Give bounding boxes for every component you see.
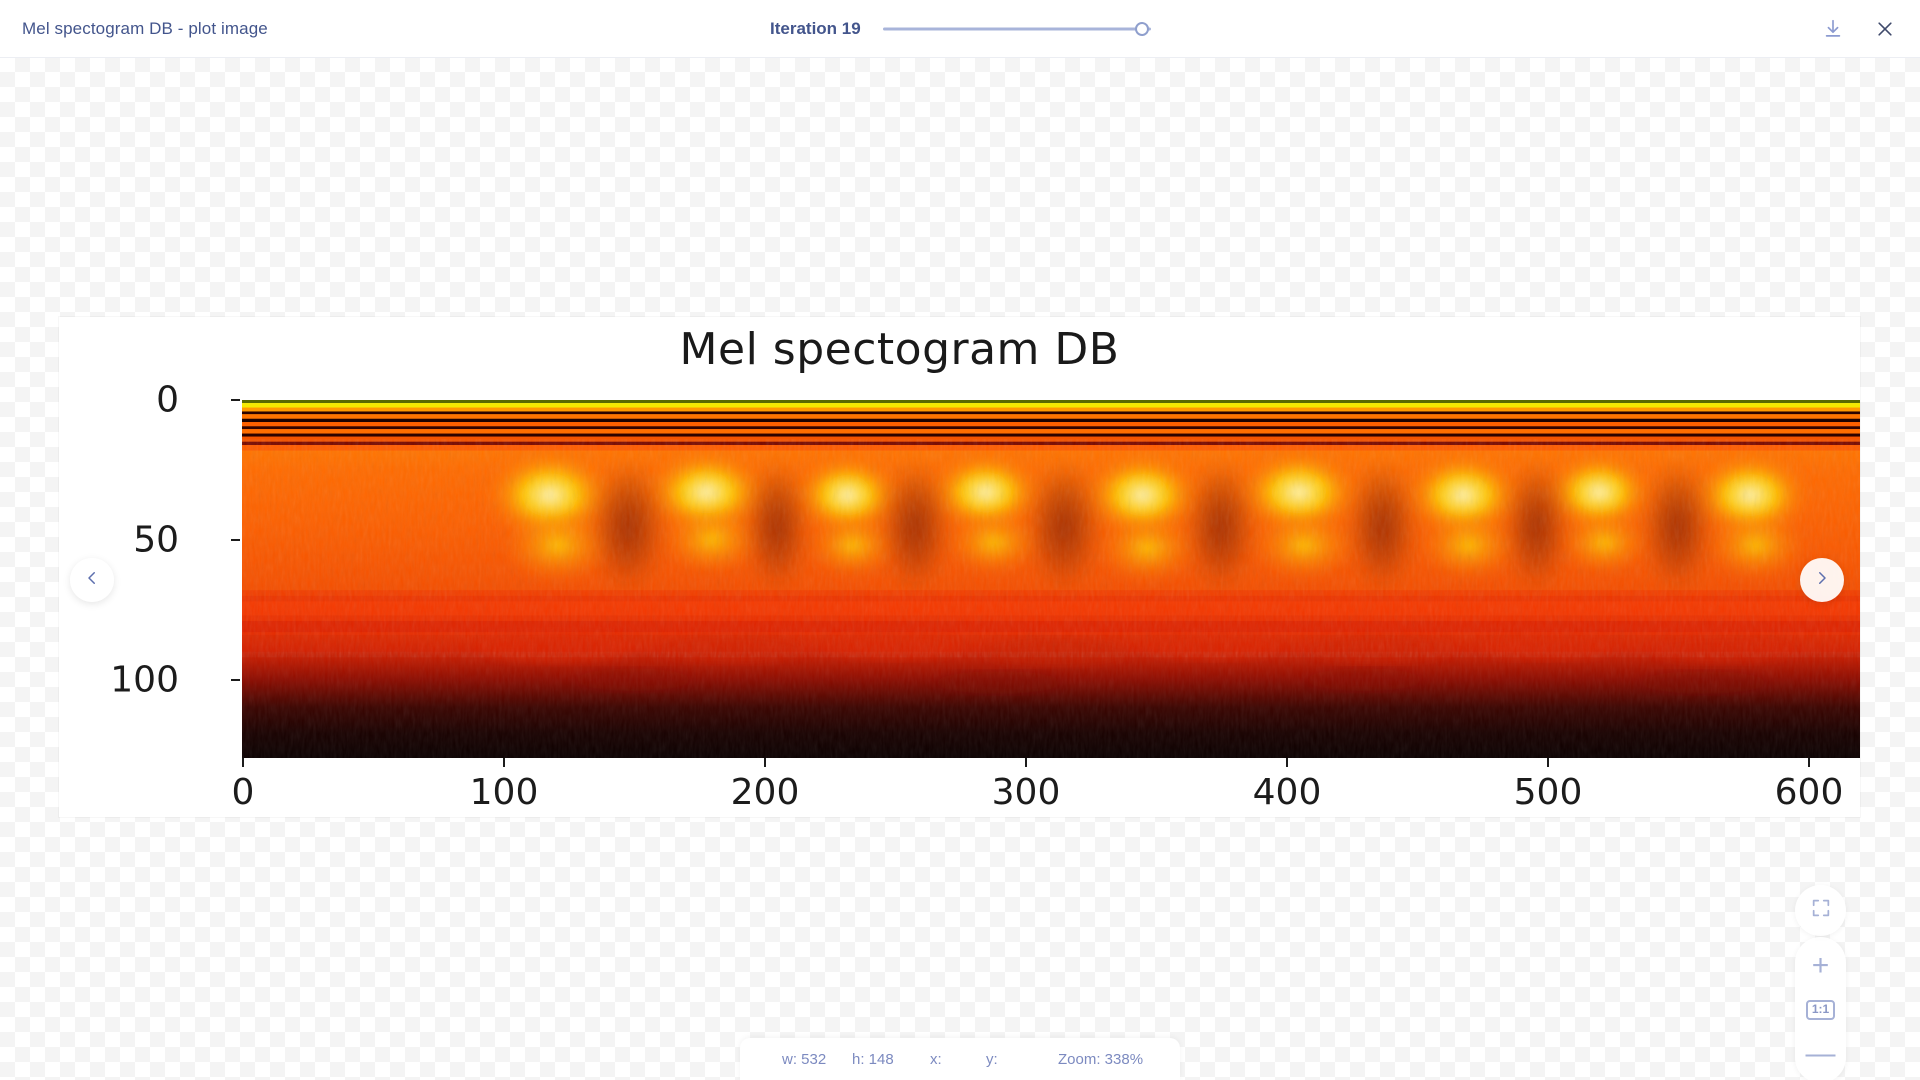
x-tick-mark <box>1547 758 1549 767</box>
y-tick-label: 100 <box>110 660 179 701</box>
x-tick-label: 600 <box>1775 772 1844 813</box>
header-actions <box>1818 14 1900 44</box>
close-icon[interactable] <box>1870 14 1900 44</box>
minus-icon: — <box>1806 1039 1836 1069</box>
viewer-header: Mel spectogram DB - plot image Iteration… <box>0 0 1920 58</box>
x-tick-mark <box>503 758 505 767</box>
iteration-label: Iteration 19 <box>770 19 861 39</box>
plus-icon: + <box>1812 951 1830 981</box>
x-tick-mark <box>1025 758 1027 767</box>
zoom-out-button[interactable]: — <box>1804 1037 1838 1071</box>
one-to-one-icon: 1:1 <box>1806 1000 1835 1019</box>
x-tick-label: 400 <box>1253 772 1322 813</box>
chevron-left-icon <box>83 569 101 592</box>
x-tick-mark <box>242 758 244 767</box>
y-tick-label: 50 <box>133 520 179 561</box>
x-tick-label: 300 <box>992 772 1061 813</box>
chevron-right-icon <box>1813 569 1831 592</box>
status-y: y: <box>986 1051 998 1068</box>
prev-image-button[interactable] <box>70 558 114 602</box>
slider-thumb[interactable] <box>1135 22 1149 36</box>
download-icon[interactable] <box>1818 14 1848 44</box>
y-tick-mark <box>231 539 240 541</box>
iteration-slider[interactable] <box>883 18 1151 40</box>
page-title: Mel spectogram DB - plot image <box>22 19 268 39</box>
y-tick-mark <box>231 399 240 401</box>
slider-track[interactable] <box>883 27 1151 30</box>
chart-plot-area[interactable] <box>242 400 1860 758</box>
viewer-canvas[interactable]: Mel spectogram DB 0 50 100 <box>0 57 1920 1080</box>
y-tick-mark <box>231 679 240 681</box>
y-tick-label: 0 <box>156 380 179 421</box>
status-zoom: Zoom: 338% <box>1058 1051 1143 1068</box>
fit-to-screen-icon <box>1810 897 1832 924</box>
status-height: h: 148 <box>852 1051 894 1068</box>
x-tick-label: 100 <box>470 772 539 813</box>
x-tick-label: 500 <box>1514 772 1583 813</box>
status-width: w: 532 <box>782 1051 826 1068</box>
image-viewer-app: Mel spectogram DB - plot image Iteration… <box>0 0 1920 1080</box>
x-tick-label: 0 <box>232 772 255 813</box>
zoom-in-button[interactable]: + <box>1804 949 1838 983</box>
x-tick-mark <box>1286 758 1288 767</box>
next-image-button[interactable] <box>1800 558 1844 602</box>
zoom-controls: + 1:1 — <box>1795 937 1846 1080</box>
mel-spectrogram-image <box>242 400 1860 758</box>
fit-to-screen-button[interactable] <box>1795 885 1846 936</box>
status-bar: w: 532 h: 148 x: y: Zoom: 338% <box>740 1038 1180 1080</box>
status-x: x: <box>930 1051 942 1068</box>
x-tick-mark <box>764 758 766 767</box>
x-tick-mark <box>1808 758 1810 767</box>
plot-figure[interactable]: Mel spectogram DB 0 50 100 <box>59 317 1860 817</box>
iteration-control: Iteration 19 <box>770 18 1151 40</box>
x-tick-label: 200 <box>731 772 800 813</box>
actual-size-button[interactable]: 1:1 <box>1804 993 1838 1027</box>
chart-title: Mel spectogram DB <box>0 324 1800 375</box>
